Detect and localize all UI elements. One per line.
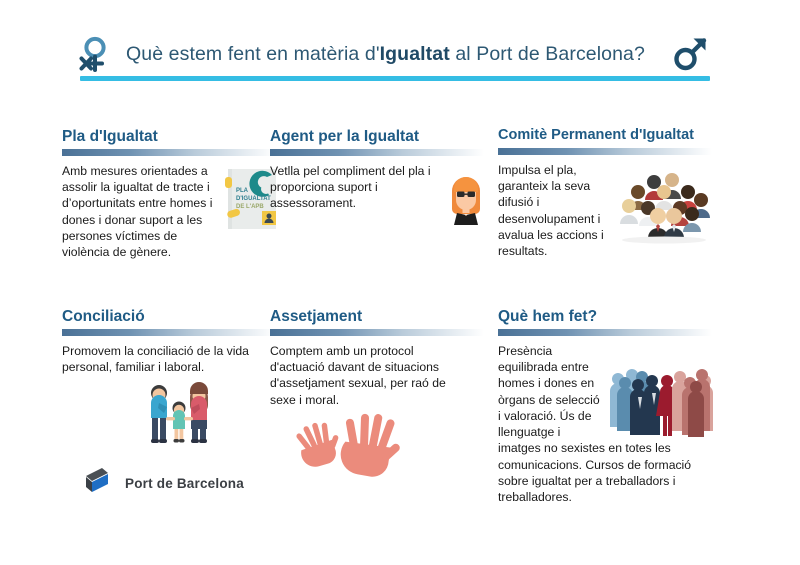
section-title: Agent per la Igualtat xyxy=(270,128,488,145)
section-body: Presència equilibrada entre homes i done… xyxy=(498,343,713,505)
section-body: Vetlla pel compliment del pla i proporci… xyxy=(270,163,488,212)
port-de-barcelona-logo: Port de Barcelona xyxy=(82,465,244,502)
section-body-text: Comptem amb un protocol d'actuació davan… xyxy=(270,343,466,408)
section-underline-rule xyxy=(270,329,484,336)
two-open-hands-icon xyxy=(294,410,404,480)
page-title-emphasis: Igualtat xyxy=(380,43,450,65)
svg-text:PLA: PLA xyxy=(236,188,249,194)
header-row: Què estem fent en matèria d'Igualtat al … xyxy=(72,34,710,74)
page-header: Què estem fent en matèria d'Igualtat al … xyxy=(72,34,710,84)
section-title: Què hem fet? xyxy=(498,308,716,325)
mars-male-symbol-icon xyxy=(670,34,710,74)
group-of-people-icon xyxy=(612,166,716,246)
section-comite-permanent-digualtat: Comitè Permanent d'Igualtat xyxy=(498,128,716,259)
page-title: Què estem fent en matèria d'Igualtat al … xyxy=(112,43,670,66)
section-title: Conciliació xyxy=(62,308,280,325)
section-underline-rule xyxy=(62,149,276,156)
section-underline-rule xyxy=(498,148,712,155)
port-de-barcelona-logo-text: Port de Barcelona xyxy=(125,476,244,491)
section-body: PLA D'IGUALTAT DE L'APB Amb mesures orie… xyxy=(62,163,280,260)
section-assetjament: Assetjament Comptem amb un protocol d'ac… xyxy=(270,308,488,480)
section-que-hem-fet: Què hem fet? xyxy=(498,308,716,505)
section-underline-rule xyxy=(498,329,712,336)
section-agent-per-la-igualtat: Agent per la Igualtat Vetlla pe xyxy=(270,128,488,227)
woman-with-glasses-avatar-icon xyxy=(444,169,488,225)
section-title: Pla d'Igualtat xyxy=(62,128,280,145)
crowd-silhouettes-icon xyxy=(609,365,715,437)
section-body-text: Promovem la conciliació de la vida perso… xyxy=(62,343,294,375)
svg-text:D'IGUALTAT: D'IGUALTAT xyxy=(236,196,271,202)
section-conciliacio: Conciliació Promovem la conciliació de l… xyxy=(62,308,280,449)
page-title-suffix: al Port de Barcelona? xyxy=(450,43,645,65)
section-pla-digualtat: Pla d'Igualtat PLA D'IGUALTAT DE L'A xyxy=(62,128,280,260)
page-title-prefix: Què estem fent en matèria d' xyxy=(126,43,380,65)
section-underline-rule xyxy=(62,329,276,336)
port-de-barcelona-logo-icon xyxy=(82,465,116,502)
family-icon xyxy=(140,381,218,449)
section-title: Assetjament xyxy=(270,308,488,325)
section-body: Impulsa el pla, garanteix la seva difusi… xyxy=(498,162,716,259)
section-title: Comitè Permanent d'Igualtat xyxy=(498,128,716,144)
venus-female-symbol-icon xyxy=(72,34,112,74)
header-underline-rule xyxy=(80,76,710,81)
section-body: Promovem la conciliació de la vida perso… xyxy=(62,343,294,449)
section-body: Comptem amb un protocol d'actuació davan… xyxy=(270,343,466,480)
section-underline-rule xyxy=(270,149,484,156)
svg-text:DE L'APB: DE L'APB xyxy=(236,204,264,210)
